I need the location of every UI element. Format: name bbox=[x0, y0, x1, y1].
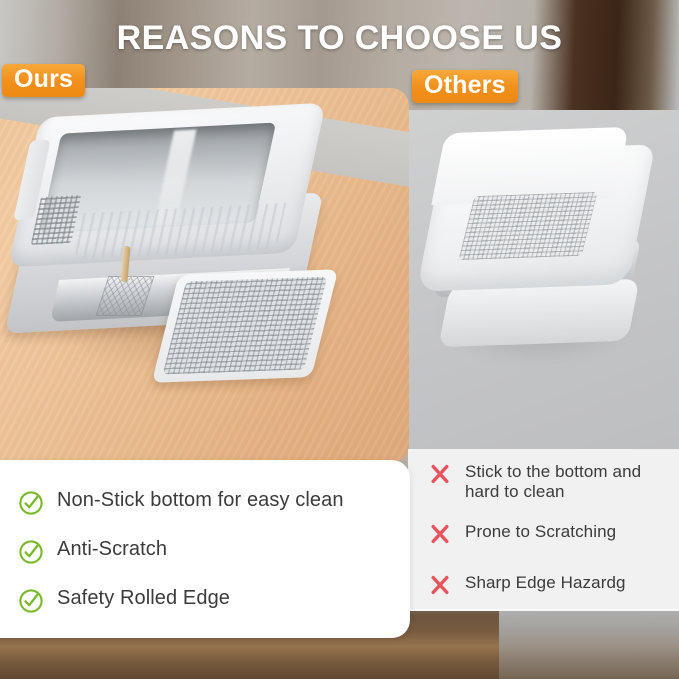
others-feature-card: Stick to the bottom and hard to clean Pr… bbox=[408, 449, 679, 611]
check-circle-icon bbox=[18, 588, 44, 614]
list-item-label: Non-Stick bottom for easy clean bbox=[57, 489, 344, 512]
others-box-mesh-floor bbox=[458, 192, 597, 260]
ours-feature-card: Non-Stick bottom for easy clean Anti-Scr… bbox=[0, 460, 410, 638]
comparison-infographic: REASONS TO CHOOSE US Ours Othe bbox=[0, 0, 679, 679]
list-item: Non-Stick bottom for easy clean bbox=[18, 489, 398, 516]
badge-ours: Ours bbox=[2, 64, 85, 97]
list-item-label: Anti-Scratch bbox=[57, 538, 167, 561]
others-product-image bbox=[409, 110, 679, 451]
ours-litter-box-illustration bbox=[14, 104, 344, 404]
cross-icon bbox=[428, 573, 452, 597]
list-item-label: Stick to the bottom and hard to clean bbox=[465, 462, 674, 502]
list-item-label: Safety Rolled Edge bbox=[57, 587, 230, 610]
list-item: Anti-Scratch bbox=[18, 538, 398, 565]
badge-others: Others bbox=[412, 70, 518, 103]
cross-icon bbox=[428, 522, 452, 546]
page-title: REASONS TO CHOOSE US bbox=[0, 19, 679, 58]
check-circle-icon bbox=[18, 539, 44, 565]
grate-mat-mesh bbox=[163, 277, 328, 375]
right-card-bottom-edge bbox=[408, 609, 679, 611]
list-item-label: Prone to Scratching bbox=[465, 522, 616, 542]
cross-icon bbox=[428, 462, 452, 486]
list-item: Safety Rolled Edge bbox=[18, 587, 398, 614]
list-item: Stick to the bottom and hard to clean bbox=[428, 462, 674, 502]
list-item: Prone to Scratching bbox=[428, 522, 674, 546]
list-item-label: Sharp Edge Hazardg bbox=[465, 573, 626, 593]
list-item: Sharp Edge Hazardg bbox=[428, 573, 674, 597]
check-circle-icon bbox=[18, 490, 44, 516]
ours-product-image bbox=[0, 88, 409, 463]
